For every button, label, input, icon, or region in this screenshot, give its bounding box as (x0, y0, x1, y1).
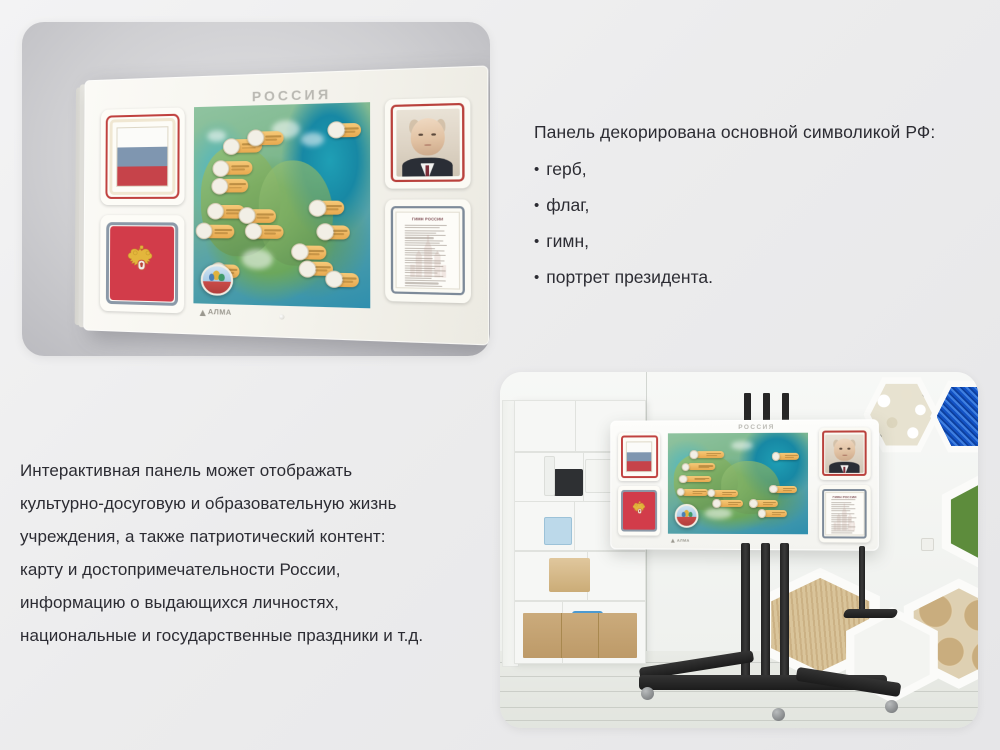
stand-base-foot-rear (843, 609, 898, 618)
interactive-map-screen[interactable] (194, 102, 371, 308)
map-marker[interactable] (315, 201, 344, 215)
president-portrait-image (396, 109, 459, 177)
map-marker[interactable] (334, 123, 361, 137)
panel-body: РОССИЯ (83, 65, 489, 345)
slide-root: РОССИЯ (0, 0, 1000, 750)
product-photo-panel-standalone: РОССИЯ (22, 22, 490, 356)
feature-item-portrait: портрет президента. (534, 267, 984, 289)
wall-power-socket (921, 538, 934, 551)
map-marker[interactable] (718, 500, 743, 507)
map-marker[interactable] (252, 225, 283, 239)
russian-flag-icon (116, 126, 168, 187)
map-marker[interactable] (219, 161, 252, 175)
description-line-2: культурно-досуговую и образовательную жи… (20, 488, 520, 521)
russian-coat-of-arms-icon (110, 227, 174, 302)
anthem-frame-room[interactable]: ГИМН РОССИИ (819, 485, 871, 543)
shelf-item-basket (549, 558, 590, 592)
room-scene: РОССИЯ (500, 372, 978, 728)
flag-frame-room[interactable] (618, 432, 660, 481)
map-marker[interactable] (245, 209, 276, 223)
shelving-cabinet-doors[interactable] (523, 613, 637, 657)
map-of-russia (668, 433, 807, 535)
anthem-sheet: ГИМН РОССИИ (395, 212, 460, 290)
product-photo-panel-in-room: РОССИЯ (500, 372, 978, 728)
anthem-title: ГИМН РОССИИ (396, 216, 459, 221)
brand-logo-text: АЛМА (677, 538, 690, 543)
map-marker[interactable] (202, 225, 234, 239)
stand-column (761, 543, 770, 678)
brand-logo-text: АЛМА (208, 309, 232, 317)
flag-frame[interactable] (100, 107, 184, 205)
map-marker[interactable] (754, 500, 778, 507)
feature-item-flag: флаг, (534, 195, 984, 217)
map-of-russia (194, 102, 371, 308)
brand-logo: АЛМА (200, 309, 232, 317)
saint-basils-cathedral-badge[interactable] (675, 504, 698, 528)
stand-caster (641, 687, 654, 700)
description-line-3: учреждения, а также патриотический конте… (20, 521, 520, 554)
saint-basils-cathedral-badge[interactable] (201, 264, 233, 297)
stand-column-secondary (859, 546, 865, 610)
interactive-map-screen-room[interactable] (668, 433, 807, 535)
anthem-sheet: ГИМН РОССИИ (825, 492, 864, 536)
shelf-item-book-dark (554, 469, 582, 495)
panel-title-room: РОССИЯ (690, 423, 825, 431)
map-marker[interactable] (685, 476, 711, 483)
map-marker[interactable] (254, 131, 284, 145)
map-marker[interactable] (323, 225, 350, 239)
feature-list: герб, флаг, гимн, портрет президента. (534, 159, 984, 289)
feature-list-lead: Панель декорирована основной символикой … (534, 122, 984, 144)
interactive-panel-hero: РОССИЯ (83, 65, 489, 345)
shelf-item-card (544, 456, 556, 495)
map-marker[interactable] (218, 179, 249, 193)
map-marker[interactable] (713, 490, 738, 497)
map-marker[interactable] (682, 489, 708, 496)
description-line-5: информацию о выдающихся личностях, (20, 587, 520, 620)
description-line-6: национальные и государственные праздники… (20, 620, 520, 653)
anthem-title: ГИМН РОССИИ (826, 495, 863, 499)
president-portrait-frame-room[interactable] (819, 427, 871, 480)
russian-flag-icon (626, 441, 652, 471)
interactive-panel-mounted: РОССИЯ (610, 419, 879, 551)
stand-caster (885, 700, 898, 713)
logo-mark-icon (200, 309, 206, 315)
map-marker[interactable] (774, 486, 796, 493)
description-block: Интерактивная панель может отображать ку… (20, 455, 520, 653)
map-marker[interactable] (688, 463, 716, 470)
president-portrait-frame[interactable] (385, 97, 471, 189)
screen-sensor-icon (279, 314, 284, 319)
map-marker[interactable] (332, 272, 359, 287)
map-marker[interactable] (763, 510, 787, 517)
anthem-lines (831, 500, 858, 536)
feature-list-block: Панель декорирована основной символикой … (534, 122, 984, 302)
anthem-lines (405, 225, 450, 290)
description-line-4: карту и достопримечательности России, (20, 554, 520, 587)
anthem-frame[interactable]: ГИМН РОССИИ (385, 199, 471, 302)
stand-column (780, 543, 789, 678)
president-portrait-image (825, 434, 863, 473)
feature-item-anthem: гимн, (534, 231, 984, 253)
logo-mark-icon (671, 538, 675, 542)
description-line-1: Интерактивная панель может отображать (20, 455, 520, 488)
coat-of-arms-frame-room[interactable] (618, 486, 660, 535)
shelf-item-bin-blue (544, 517, 572, 546)
brand-logo-room: АЛМА (671, 538, 690, 543)
map-marker[interactable] (696, 451, 724, 458)
russian-coat-of-arms-icon (623, 492, 655, 529)
map-marker[interactable] (777, 453, 800, 460)
map-marker[interactable] (298, 245, 327, 259)
feature-item-coat-of-arms: герб, (534, 159, 984, 181)
coat-of-arms-frame[interactable] (100, 215, 185, 313)
